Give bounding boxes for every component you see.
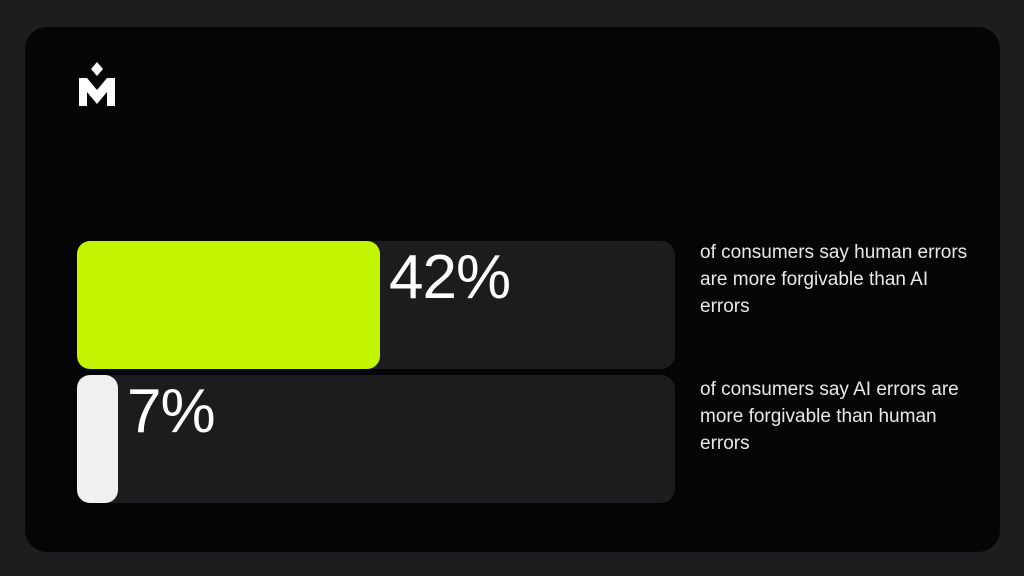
bar-value-label: 42% xyxy=(389,247,510,309)
bar-value-label: 7% xyxy=(127,381,215,443)
bar-row: 42% xyxy=(77,241,675,369)
bar-description: of consumers say human errors are more f… xyxy=(700,239,975,320)
bar-description: of consumers say AI errors are more forg… xyxy=(700,376,975,457)
m-monogram-logo xyxy=(77,60,117,108)
bar-row: 7% xyxy=(77,375,675,503)
bar-fill-secondary xyxy=(77,375,118,503)
stat-card: 42% of consumers say human errors are mo… xyxy=(25,27,1000,552)
bar-fill-primary xyxy=(77,241,380,369)
